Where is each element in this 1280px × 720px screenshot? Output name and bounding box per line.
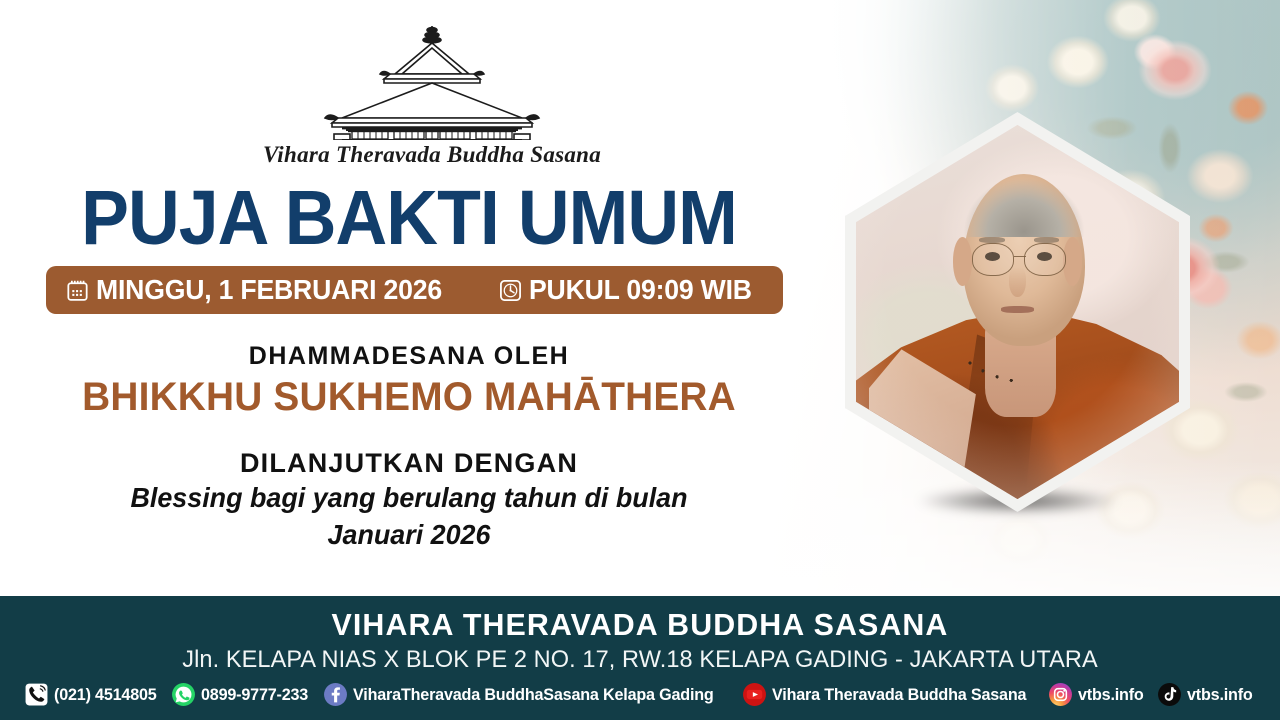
contact-phone-label: (021) 4514805 [54, 685, 157, 705]
youtube-icon [742, 682, 767, 707]
temple-pagoda-icon [312, 22, 552, 140]
contact-whatsapp[interactable]: 0899-9777-233 [171, 682, 314, 707]
event-time: PUKUL 09:09 WIB [529, 274, 752, 306]
contact-whatsapp-label: 0899-9777-233 [201, 685, 308, 705]
organization-logo: Vihara Theravada Buddha Sasana [262, 22, 602, 168]
speaker-label: DHAMMADESANA OLEH [0, 342, 818, 371]
facebook-icon [323, 682, 348, 707]
contact-instagram-label: vtbs.info [1078, 685, 1144, 705]
date-segment: MINGGU, 1 FEBRUARI 2026 [65, 274, 460, 306]
clock-icon [498, 278, 523, 303]
contact-facebook[interactable]: ViharaTheravada BuddhaSasana Kelapa Gadi… [323, 682, 733, 707]
contact-youtube-label: Vihara Theravada Buddha Sasana [772, 685, 1026, 705]
instagram-icon [1048, 682, 1073, 707]
contact-instagram[interactable]: vtbs.info [1048, 682, 1147, 707]
contact-tiktok-label: vtbs.info [1187, 685, 1253, 705]
contact-facebook-label: ViharaTheravada BuddhaSasana Kelapa Gadi… [353, 685, 714, 705]
speaker-name: BHIKKHU SUKHEMO MAHĀTHERA [12, 375, 805, 420]
continuation-label: DILANJUTKAN DENGAN [0, 448, 818, 479]
continuation-line-2: Januari 2026 [16, 517, 801, 554]
footer-contacts: (021) 4514805 0899-9777-233 ViharaTherav… [0, 682, 1280, 707]
footer-address: Jln. KELAPA NIAS X BLOK PE 2 NO. 17, RW.… [13, 646, 1267, 674]
contact-tiktok[interactable]: vtbs.info [1157, 682, 1256, 707]
organization-logo-text: Vihara Theravada Buddha Sasana [262, 142, 602, 168]
footer-title: VIHARA THERAVADA BUDDHA SASANA [13, 596, 1267, 643]
speaker-photo-frame [845, 112, 1190, 512]
calendar-icon [65, 278, 90, 303]
contact-phone[interactable]: (021) 4514805 [24, 682, 162, 707]
continuation-line-1: Blessing bagi yang berulang tahun di bul… [16, 480, 801, 517]
contact-youtube[interactable]: Vihara Theravada Buddha Sasana [742, 682, 1040, 707]
footer: VIHARA THERAVADA BUDDHA SASANA Jln. KELA… [0, 596, 1280, 720]
tiktok-icon [1157, 682, 1182, 707]
phone-icon [24, 682, 49, 707]
continuation-text: Blessing bagi yang berulang tahun di bul… [16, 480, 801, 554]
event-date: MINGGU, 1 FEBRUARI 2026 [96, 274, 442, 306]
whatsapp-icon [171, 682, 196, 707]
date-time-bar: MINGGU, 1 FEBRUARI 2026 PUKUL 09:09 WIB [46, 266, 783, 314]
time-segment: PUKUL 09:09 WIB [498, 274, 764, 306]
page-title: PUJA BAKTI UMUM [29, 180, 790, 257]
event-poster: Vihara Theravada Buddha Sasana PUJA BAKT… [0, 0, 1280, 720]
